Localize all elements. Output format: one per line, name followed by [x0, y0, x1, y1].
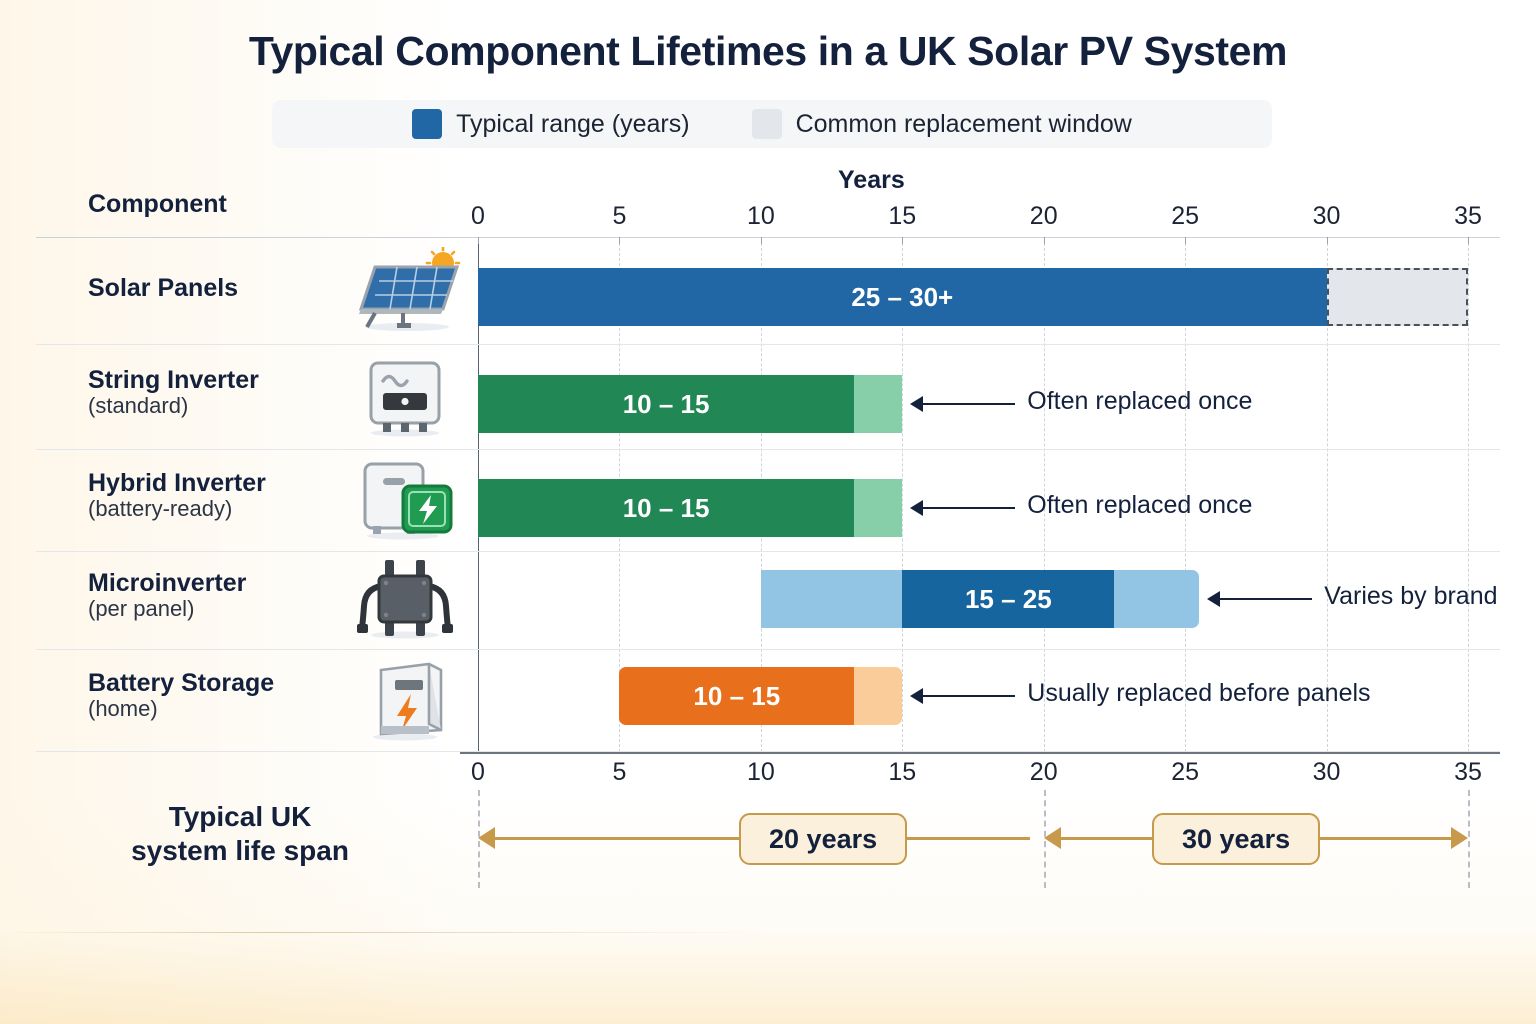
lifespan-line-right-1: [1320, 837, 1454, 840]
solar-panel-icon: [345, 247, 465, 333]
x-tick-label-bottom-0: 0: [471, 758, 485, 787]
row-label-sub: (standard): [88, 394, 338, 419]
bottom-divider: [0, 932, 768, 933]
infographic-canvas: Typical Component Lifetimes in a UK Sola…: [0, 0, 1536, 1024]
lifespan-line-right-0: [907, 837, 1030, 840]
page-title: Typical Component Lifetimes in a UK Sola…: [0, 28, 1536, 75]
annotation-leader-line: [1220, 598, 1312, 600]
row-label-battery-storage: Battery Storage(home): [88, 669, 338, 722]
x-tick-label-bottom-5: 5: [612, 758, 626, 787]
row-icon-wrapper: [345, 247, 465, 333]
x-tick-label-bottom-20: 20: [1030, 758, 1058, 787]
row-label-hybrid-inverter: Hybrid Inverter(battery-ready): [88, 469, 338, 522]
annotation-text: Varies by brand: [1324, 582, 1497, 611]
lifespan-label-line2: system life span: [131, 835, 349, 866]
annotation-text: Often replaced once: [1027, 491, 1252, 520]
annotation-text: Usually replaced before panels: [1027, 679, 1370, 708]
bar-value-label: 10 – 15: [478, 375, 854, 433]
lifespan-arrow-right-1: [1451, 827, 1468, 849]
lifespan-pill-0: 20 years: [739, 813, 907, 865]
row-label-main: Hybrid Inverter: [88, 469, 338, 497]
bar-extension: [854, 667, 902, 725]
bar-value-label: 15 – 25: [902, 570, 1114, 628]
x-tick-label-bottom-15: 15: [888, 758, 916, 787]
annotation-arrowhead-icon: [910, 500, 923, 516]
legend-item-replacement-window: Common replacement window: [752, 109, 1132, 139]
row-icon-wrapper: [345, 556, 465, 642]
row-label-string-inverter: String Inverter(standard): [88, 366, 338, 419]
x-tick-label-top-35: 35: [1454, 202, 1482, 231]
battery-storage-icon: [345, 656, 465, 742]
lifespan-line-left-0: [492, 837, 739, 840]
legend-item-typical-range: Typical range (years): [412, 109, 689, 139]
x-tick-label-top-25: 25: [1171, 202, 1199, 231]
row-icon-wrapper: [345, 656, 465, 742]
x-tick-label-top-5: 5: [612, 202, 626, 231]
x-tick-label-bottom-30: 30: [1313, 758, 1341, 787]
lifespan-label: Typical UK system life span: [90, 800, 390, 868]
x-tick-label-bottom-10: 10: [747, 758, 775, 787]
hybrid-inverter-icon: [345, 456, 465, 542]
x-tick-label-bottom-25: 25: [1171, 758, 1199, 787]
annotation-text: Often replaced once: [1027, 387, 1252, 416]
x-tick-label-top-10: 10: [747, 202, 775, 231]
lifespan-dash-35: [1468, 790, 1470, 888]
legend-label-typical-range: Typical range (years): [456, 110, 689, 139]
bar-value-label: 10 – 15: [619, 667, 854, 725]
legend-label-replacement-window: Common replacement window: [796, 110, 1132, 139]
row-label-main: String Inverter: [88, 366, 338, 394]
plot-baseline: [460, 752, 1500, 754]
row-label-sub: (battery-ready): [88, 497, 338, 522]
row-label-sub: (per panel): [88, 597, 338, 622]
bar-extension: [854, 375, 902, 433]
row-label-main: Microinverter: [88, 569, 338, 597]
lifespan-line-left-1: [1058, 837, 1152, 840]
x-tick-label-top-30: 30: [1313, 202, 1341, 231]
bar-value-label: 10 – 15: [478, 479, 854, 537]
lifespan-arrow-left-0: [478, 827, 495, 849]
replacement-window-block: [1327, 268, 1468, 326]
x-tick-label-top-20: 20: [1030, 202, 1058, 231]
row-icon-wrapper: [345, 456, 465, 542]
x-tick-label-top-15: 15: [888, 202, 916, 231]
row-label-main: Battery Storage: [88, 669, 338, 697]
lifespan-arrow-left-1: [1044, 827, 1061, 849]
legend-swatch-blue-icon: [412, 109, 442, 139]
annotation-leader-line: [923, 507, 1015, 509]
microinverter-icon: [345, 556, 465, 642]
annotation-leader-line: [923, 695, 1015, 697]
row-icon-wrapper: [345, 353, 465, 439]
row-label-solar-panels: Solar Panels: [88, 274, 338, 302]
row-separator: [36, 751, 1500, 752]
x-tick-label-top-0: 0: [471, 202, 485, 231]
annotation-arrowhead-icon: [910, 688, 923, 704]
lifespan-label-line1: Typical UK: [169, 801, 312, 832]
x-tick-label-bottom-35: 35: [1454, 758, 1482, 787]
bar-value-label: 25 – 30+: [478, 268, 1327, 326]
annotation-arrowhead-icon: [1207, 591, 1220, 607]
bar-extension: [854, 479, 902, 537]
row-label-main: Solar Panels: [88, 274, 338, 302]
string-inverter-icon: [345, 353, 465, 439]
component-column-header: Component: [88, 190, 227, 219]
row-label-microinverter: Microinverter(per panel): [88, 569, 338, 622]
x-axis-title: Years: [838, 166, 905, 195]
row-label-sub: (home): [88, 697, 338, 722]
lifespan-pill-1: 30 years: [1152, 813, 1320, 865]
legend-swatch-grey-icon: [752, 109, 782, 139]
annotation-leader-line: [923, 403, 1015, 405]
annotation-arrowhead-icon: [910, 396, 923, 412]
chart-legend: Typical range (years) Common replacement…: [272, 100, 1272, 148]
